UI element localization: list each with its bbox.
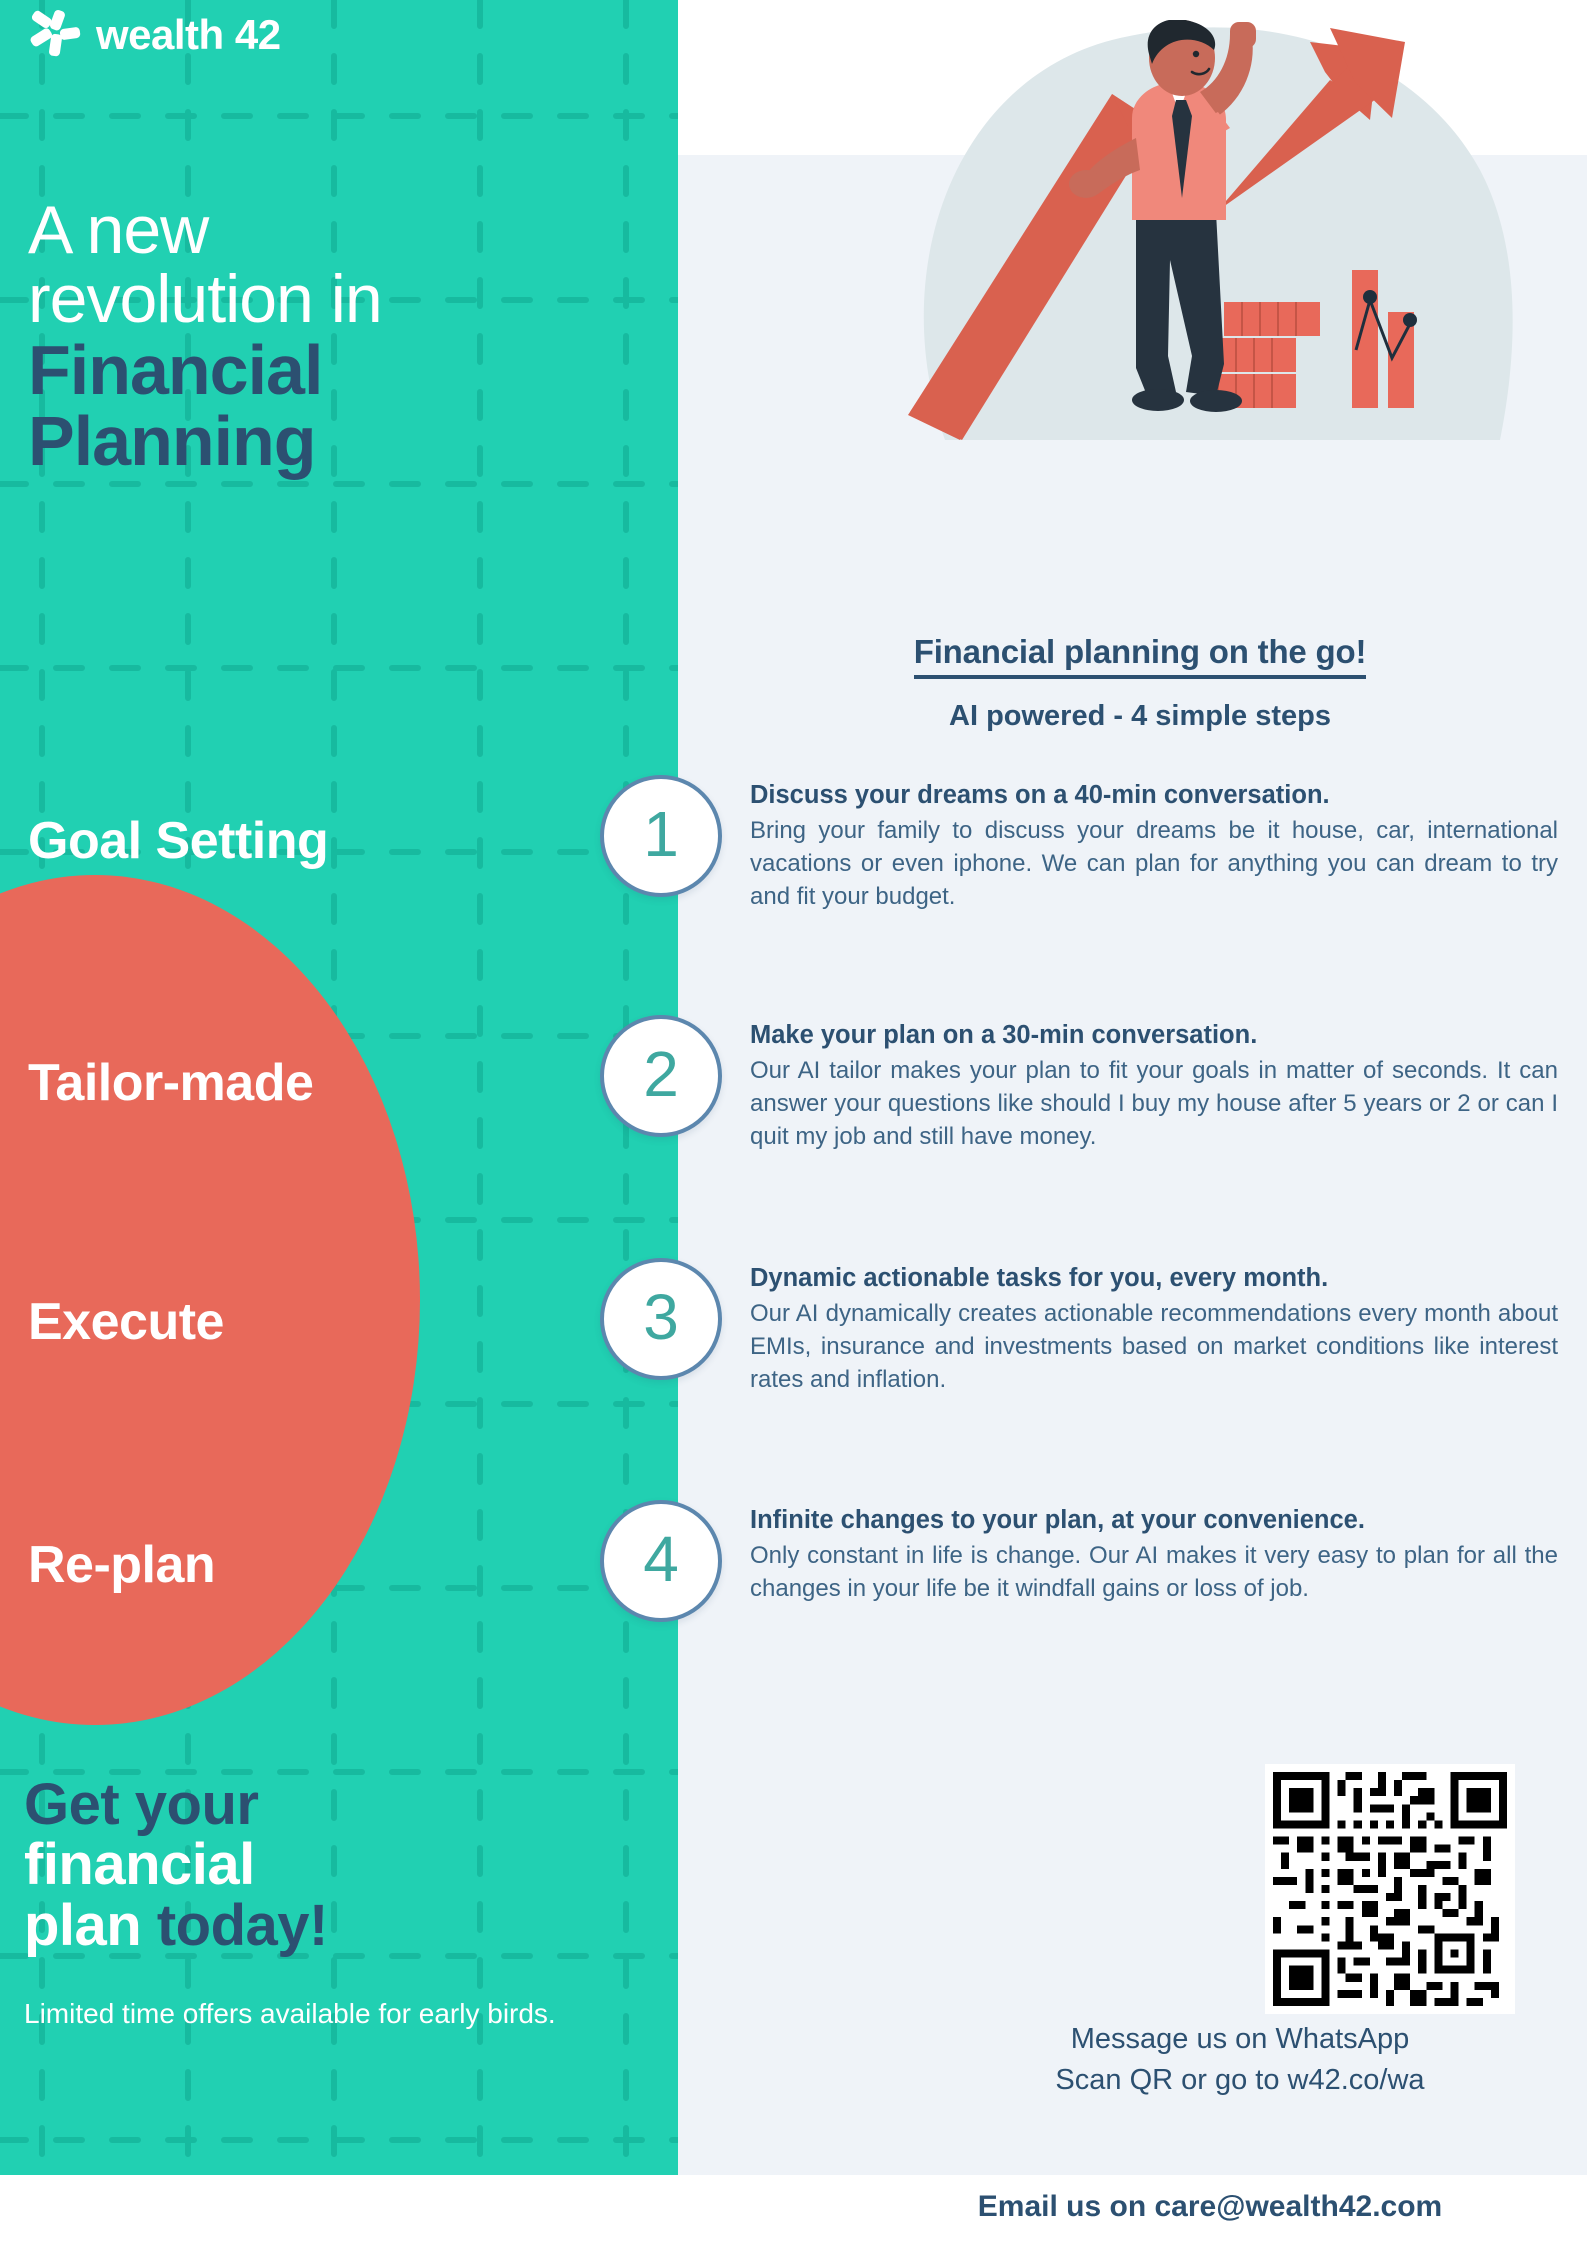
step-number-3: 3 bbox=[643, 1285, 679, 1349]
qr-code-icon[interactable] bbox=[1265, 1764, 1515, 2014]
step-heading-2: Make your plan on a 30-min conversation. bbox=[750, 1021, 1575, 1050]
right-panel-title-text: Financial planning on the go! bbox=[914, 633, 1367, 679]
step-body-2: Our AI tailor makes your plan to fit you… bbox=[750, 1055, 1558, 1154]
step-content-4: Infinite changes to your plan, at your c… bbox=[750, 1500, 1575, 1606]
cta-line-1: Get your bbox=[24, 1775, 644, 1835]
step-number-badge-3: 3 bbox=[600, 1258, 722, 1380]
step-number-badge-4: 4 bbox=[600, 1500, 722, 1622]
step-body-3: Our AI dynamically creates actionable re… bbox=[750, 1298, 1558, 1397]
step-item-4: 4 Infinite changes to your plan, at your… bbox=[600, 1500, 1575, 1622]
step-number-2: 2 bbox=[643, 1042, 679, 1106]
headline-line-3: Financial bbox=[28, 335, 648, 406]
right-panel-title: Financial planning on the go! bbox=[700, 633, 1580, 671]
page-title: A new revolution in Financial Planning bbox=[28, 196, 648, 478]
pinwheel-star-icon bbox=[28, 8, 82, 62]
whatsapp-contact: Message us on WhatsApp Scan QR or go to … bbox=[960, 2019, 1520, 2101]
cta-subtext: Limited time offers available for early … bbox=[24, 1995, 584, 2033]
step-label-goal-setting: Goal Setting bbox=[28, 811, 328, 871]
step-body-1: Bring your family to discuss your dreams… bbox=[750, 815, 1558, 914]
step-item-3: 3 Dynamic actionable tasks for you, ever… bbox=[600, 1258, 1575, 1397]
step-content-2: Make your plan on a 30-min conversation.… bbox=[750, 1015, 1575, 1154]
cta-line-3-today: today! bbox=[157, 1893, 328, 1958]
man-celebrating-growth-arrow-illustration bbox=[900, 20, 1540, 440]
step-number-badge-1: 1 bbox=[600, 775, 722, 897]
step-heading-4: Infinite changes to your plan, at your c… bbox=[750, 1506, 1575, 1535]
whatsapp-line-1: Message us on WhatsApp bbox=[960, 2019, 1520, 2060]
step-number-badge-2: 2 bbox=[600, 1015, 722, 1137]
brand-logo[interactable]: wealth 42 bbox=[28, 8, 281, 62]
step-number-4: 4 bbox=[643, 1527, 679, 1591]
illustration-svg bbox=[900, 20, 1540, 440]
right-panel-subtitle: AI powered - 4 simple steps bbox=[700, 700, 1580, 733]
whatsapp-line-2[interactable]: Scan QR or go to w42.co/wa bbox=[960, 2060, 1520, 2101]
step-label-execute: Execute bbox=[28, 1292, 224, 1352]
step-number-1: 1 bbox=[643, 802, 679, 866]
brand-name: wealth 42 bbox=[96, 14, 281, 56]
step-heading-3: Dynamic actionable tasks for you, every … bbox=[750, 1264, 1575, 1293]
step-label-re-plan: Re-plan bbox=[28, 1535, 215, 1595]
step-content-3: Dynamic actionable tasks for you, every … bbox=[750, 1258, 1575, 1397]
step-body-4: Only constant in life is change. Our AI … bbox=[750, 1540, 1558, 1606]
poster-root: wealth 42 A new revolution in Financial … bbox=[0, 0, 1587, 2245]
headline-line-4: Planning bbox=[28, 406, 648, 477]
qr-code-svg bbox=[1273, 1772, 1507, 2006]
step-item-1: 1 Discuss your dreams on a 40-min conver… bbox=[600, 775, 1575, 914]
cta-line-2: financial bbox=[24, 1835, 644, 1895]
email-contact[interactable]: Email us on care@wealth42.com bbox=[860, 2190, 1560, 2224]
cta-heading: Get your financial plan today! bbox=[24, 1775, 644, 1956]
step-heading-1: Discuss your dreams on a 40-min conversa… bbox=[750, 781, 1575, 810]
cta-line-3-plan: plan bbox=[24, 1893, 157, 1958]
headline-line-2: revolution in bbox=[28, 265, 648, 334]
step-content-1: Discuss your dreams on a 40-min conversa… bbox=[750, 775, 1575, 914]
step-label-tailor-made: Tailor-made bbox=[28, 1053, 313, 1113]
step-item-2: 2 Make your plan on a 30-min conversatio… bbox=[600, 1015, 1575, 1154]
headline-line-1: A new bbox=[28, 196, 648, 265]
